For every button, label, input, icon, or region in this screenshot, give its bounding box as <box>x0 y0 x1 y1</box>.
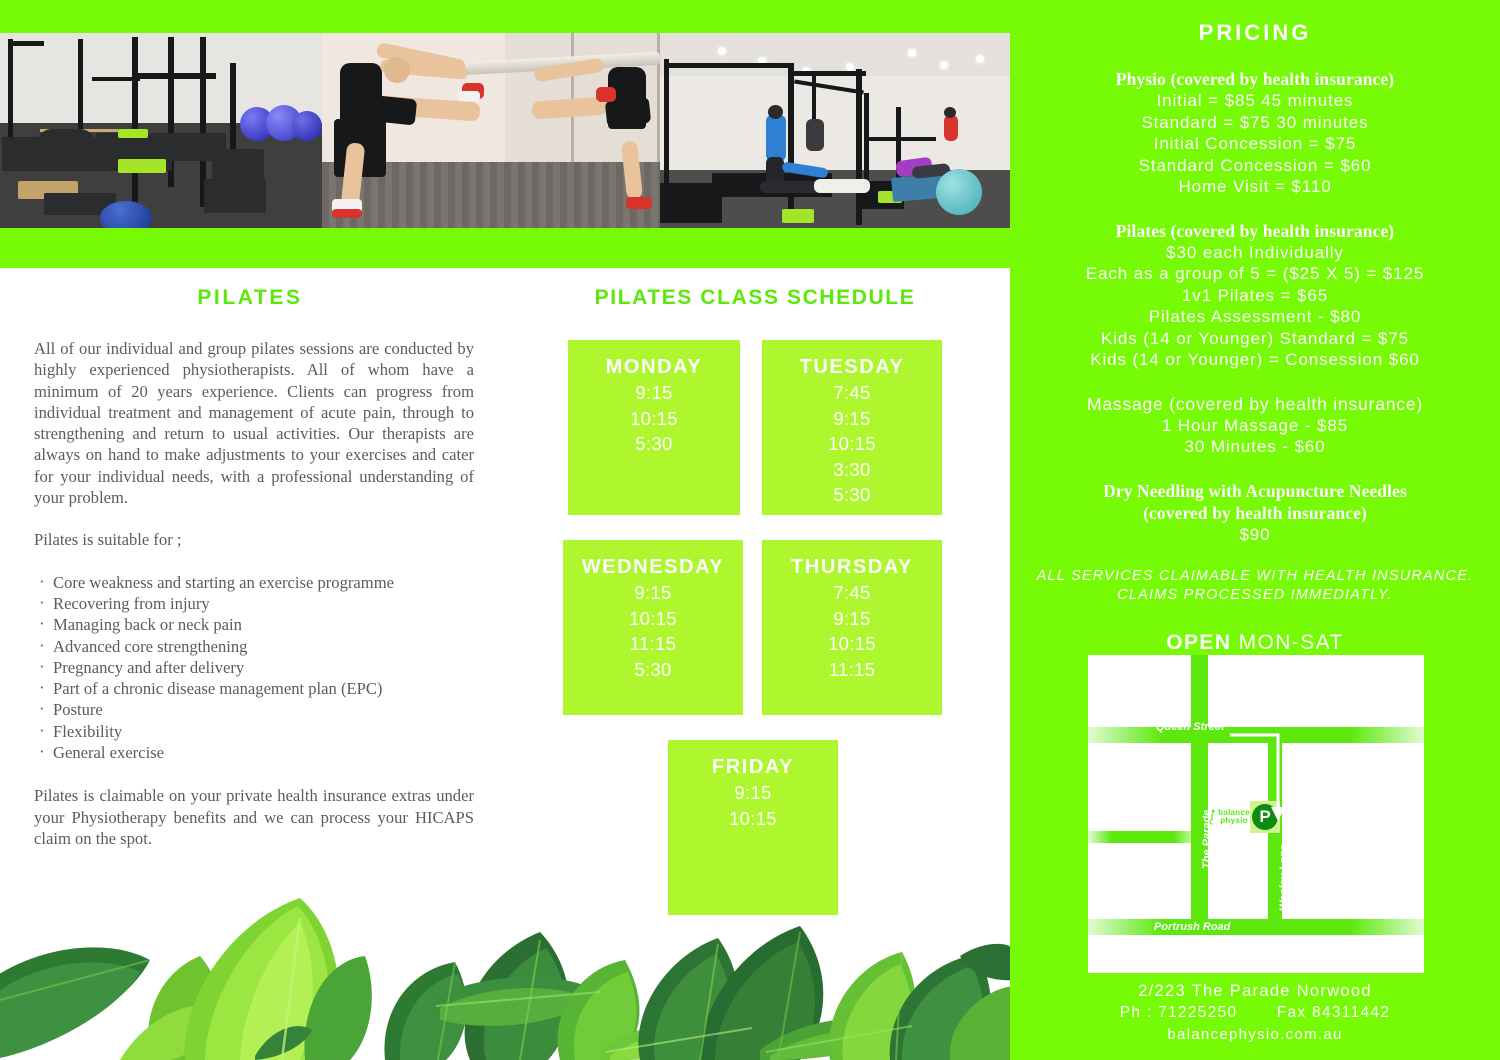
road-the-parade <box>1191 655 1208 935</box>
pricing-line: $30 each Individually <box>1010 242 1500 264</box>
map-block-7 <box>1208 655 1424 727</box>
suitable-for-list: Core weakness and starting an exercise p… <box>34 572 474 764</box>
claim-note-line-2: CLAIMS PROCESSED IMMEDIATLY. <box>1032 586 1478 605</box>
label-portrush-road: Portrush Road <box>1154 921 1230 933</box>
contact-address: 2/223 The Parade Norwood <box>1010 980 1500 1002</box>
schedule-time: 5:30 <box>762 482 942 508</box>
open-label: OPEN <box>1166 631 1231 654</box>
photo-pilates-studio-reformers <box>0 33 322 228</box>
pricing-line: 1 Hour Massage - $85 <box>1010 415 1500 437</box>
schedule-cards: MONDAY9:1510:155:30TUESDAY7:459:1510:153… <box>500 328 1010 928</box>
photo-person-stretching-barre <box>322 33 660 228</box>
map-block-3 <box>1208 835 1268 919</box>
pricing-line: Standard Concession = $60 <box>1010 155 1500 177</box>
photo-strip <box>0 33 1010 228</box>
road-portrush-road <box>1088 919 1424 935</box>
pricing-group-heading: Physio (covered by health insurance) <box>1010 68 1500 90</box>
suitable-for-item: Core weakness and starting an exercise p… <box>53 572 474 593</box>
schedule-time: 9:15 <box>762 406 942 432</box>
schedule-card-wednesday[interactable]: WEDNESDAY9:1510:1511:155:30 <box>563 540 743 715</box>
contact-website[interactable]: balancephysio.com.au <box>1010 1024 1500 1046</box>
schedule-day-name: TUESDAY <box>762 354 942 380</box>
pricing-title: PRICING <box>1010 20 1500 46</box>
schedule-day-name: FRIDAY <box>668 754 838 780</box>
schedule-day-name: THURSDAY <box>762 554 942 580</box>
pricing-line: Kids (14 or Younger) = Consession $60 <box>1010 349 1500 371</box>
label-wesley-lane: Wesley Lane <box>1278 845 1290 911</box>
pricing-line: Kids (14 or Younger) Standard = $75 <box>1010 328 1500 350</box>
pricing-group-heading: Pilates (covered by health insurance) <box>1010 220 1500 242</box>
schedule-time: 10:15 <box>668 806 838 832</box>
suitable-for-item: Recovering from injury <box>53 593 474 614</box>
schedule-time: 10:15 <box>762 431 942 457</box>
schedule-time: 10:15 <box>762 631 942 657</box>
schedule-time: 5:30 <box>563 657 743 683</box>
schedule-time: 11:15 <box>563 631 743 657</box>
schedule-day-name: MONDAY <box>568 354 740 380</box>
label-queen-street: Queen Street <box>1156 721 1224 733</box>
label-the-parade: The Parade <box>1201 810 1213 869</box>
schedule-heading: PILATES CLASS SCHEDULE <box>500 286 1010 310</box>
contact-phone-fax: Ph : 71225250 Fax 84311442 <box>1010 1002 1500 1024</box>
map-block-6 <box>1088 655 1191 727</box>
pilates-description: All of our individual and group pilates … <box>34 338 474 508</box>
schedule-card-thursday[interactable]: THURSDAY7:459:1510:1511:15 <box>762 540 942 715</box>
road-minor-left <box>1088 831 1198 843</box>
schedule-time: 5:30 <box>568 431 740 457</box>
pricing-line: Initial Concession = $75 <box>1010 133 1500 155</box>
route-arrow-icon <box>1228 729 1298 827</box>
schedule-day-name: WEDNESDAY <box>563 554 743 580</box>
schedule-time: 3:30 <box>762 457 942 483</box>
suitable-for-item: General exercise <box>53 742 474 763</box>
pilates-heading: PILATES <box>0 286 500 310</box>
suitable-for-item: Managing back or neck pain <box>53 614 474 635</box>
pricing-groups: Physio (covered by health insurance)Init… <box>1010 68 1500 545</box>
contact-phone: Ph : 71225250 <box>1120 1004 1238 1021</box>
location-map[interactable]: balance physio P Queen Street The Parade… <box>1088 655 1424 973</box>
schedule-time: 7:45 <box>762 580 942 606</box>
pricing-group-subheading: (covered by health insurance) <box>1010 502 1500 524</box>
claim-note-line-1: ALL SERVICES CLAIMABLE WITH HEALTH INSUR… <box>1032 567 1478 586</box>
pricing-group: Dry Needling with Acupuncture Needles(co… <box>1010 480 1500 546</box>
schedule-time: 10:15 <box>568 406 740 432</box>
suitable-for-item: Posture <box>53 699 474 720</box>
pricing-line: Pilates Assessment - $80 <box>1010 306 1500 328</box>
schedule-time: 9:15 <box>762 606 942 632</box>
schedule-time: 9:15 <box>668 780 838 806</box>
schedule-card-friday[interactable]: FRIDAY9:1510:15 <box>668 740 838 915</box>
pricing-line: Home Visit = $110 <box>1010 176 1500 198</box>
schedule-time: 9:15 <box>568 380 740 406</box>
suitable-for-item: Part of a chronic disease management pla… <box>53 678 474 699</box>
pricing-group-heading: Massage (covered by health insurance) <box>1010 393 1500 415</box>
pricing-panel: PRICING Physio (covered by health insura… <box>1010 0 1500 1060</box>
contact-block: 2/223 The Parade Norwood Ph : 71225250 F… <box>1010 980 1500 1046</box>
pricing-group: Pilates (covered by health insurance)$30… <box>1010 220 1500 371</box>
pricing-line: $90 <box>1010 524 1500 546</box>
suitable-for-item: Advanced core strengthening <box>53 636 474 657</box>
pricing-line: Standard = $75 30 minutes <box>1010 112 1500 134</box>
schedule-time: 7:45 <box>762 380 942 406</box>
map-block-5 <box>1088 843 1191 919</box>
hicaps-claim-text: Pilates is claimable on your private hea… <box>34 785 474 849</box>
photo-group-pilates-class <box>660 33 1010 228</box>
pricing-line: Each as a group of 5 = ($25 X 5) = $125 <box>1010 263 1500 285</box>
contact-fax: Fax 84311442 <box>1277 1004 1391 1021</box>
open-days: MON-SAT <box>1231 631 1343 654</box>
pricing-line: 30 Minutes - $60 <box>1010 436 1500 458</box>
map-block-4 <box>1088 743 1191 831</box>
pilates-body-column: All of our individual and group pilates … <box>34 338 474 870</box>
map-block-2 <box>1282 743 1424 919</box>
main-content-panel: PILATES PILATES CLASS SCHEDULE All of ou… <box>0 268 1010 1060</box>
pricing-group: Physio (covered by health insurance)Init… <box>1010 68 1500 198</box>
pricing-line: 1v1 Pilates = $65 <box>1010 285 1500 307</box>
schedule-card-tuesday[interactable]: TUESDAY7:459:1510:153:305:30 <box>762 340 942 515</box>
claim-note: ALL SERVICES CLAIMABLE WITH HEALTH INSUR… <box>1010 567 1500 605</box>
opening-hours: OPEN MON-SAT <box>1010 631 1500 655</box>
schedule-time: 11:15 <box>762 657 942 683</box>
schedule-card-monday[interactable]: MONDAY9:1510:155:30 <box>568 340 740 515</box>
brochure-page: PILATES PILATES CLASS SCHEDULE All of ou… <box>0 0 1500 1060</box>
pricing-group-heading: Dry Needling with Acupuncture Needles <box>1010 480 1500 502</box>
suitable-for-item: Flexibility <box>53 721 474 742</box>
pricing-group: Massage (covered by health insurance)1 H… <box>1010 393 1500 458</box>
schedule-time: 9:15 <box>563 580 743 606</box>
suitable-for-intro: Pilates is suitable for ; <box>34 529 474 550</box>
schedule-time: 10:15 <box>563 606 743 632</box>
suitable-for-item: Pregnancy and after delivery <box>53 657 474 678</box>
pricing-line: Initial = $85 45 minutes <box>1010 90 1500 112</box>
